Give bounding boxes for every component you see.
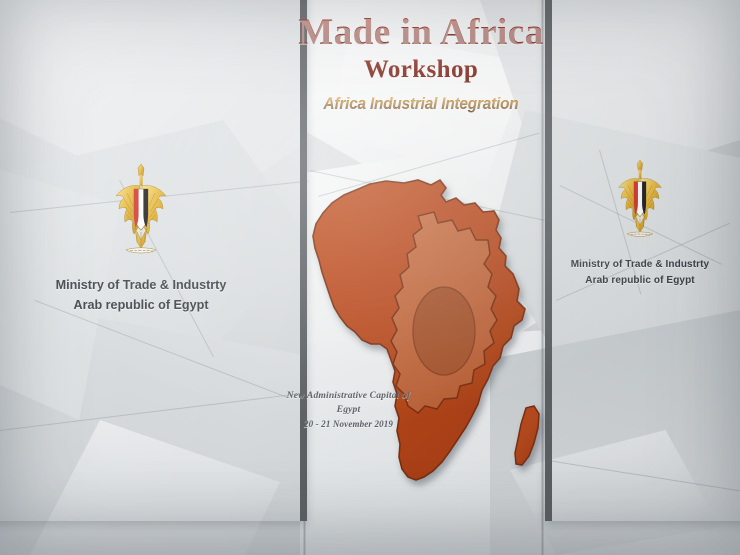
- event-tagline: Africa Industrial Integration: [295, 95, 546, 114]
- placard-right: Ministry of Trade & Industrty Arab repub…: [555, 158, 725, 288]
- africa-map-graphic: [300, 168, 570, 513]
- venue-location: New Administrative Capital of Egypt: [281, 389, 416, 417]
- venue-caption: New Administrative Capital of Egypt 20 -…: [281, 389, 416, 431]
- madagascar-island: [515, 406, 539, 465]
- ministry-name-line1: Ministry of Trade & Industrty: [555, 257, 725, 273]
- placard-left: Ministry of Trade & Industrty Arab repub…: [42, 162, 240, 315]
- ministry-name-line1: Ministry of Trade & Industrty: [42, 276, 240, 296]
- venue-dates: 20 - 21 November 2019: [281, 417, 416, 431]
- screenshot-root: Made in Africa Workshop Africa Industria…: [0, 0, 740, 555]
- eagle-of-saladin-icon: [113, 162, 169, 266]
- africa-map-svg: [300, 168, 570, 513]
- headline-block: Made in Africa Workshop Africa Industria…: [286, 14, 556, 114]
- continent-group: [313, 180, 539, 480]
- ministry-name-line2: Arab republic of Egypt: [42, 296, 240, 316]
- event-subtitle: Workshop: [286, 52, 556, 88]
- core-ellipse: [413, 287, 475, 375]
- event-title: Made in Africa: [286, 14, 556, 52]
- eagle-of-saladin-icon: [616, 158, 664, 248]
- ministry-name-line2: Arab republic of Egypt: [555, 273, 725, 289]
